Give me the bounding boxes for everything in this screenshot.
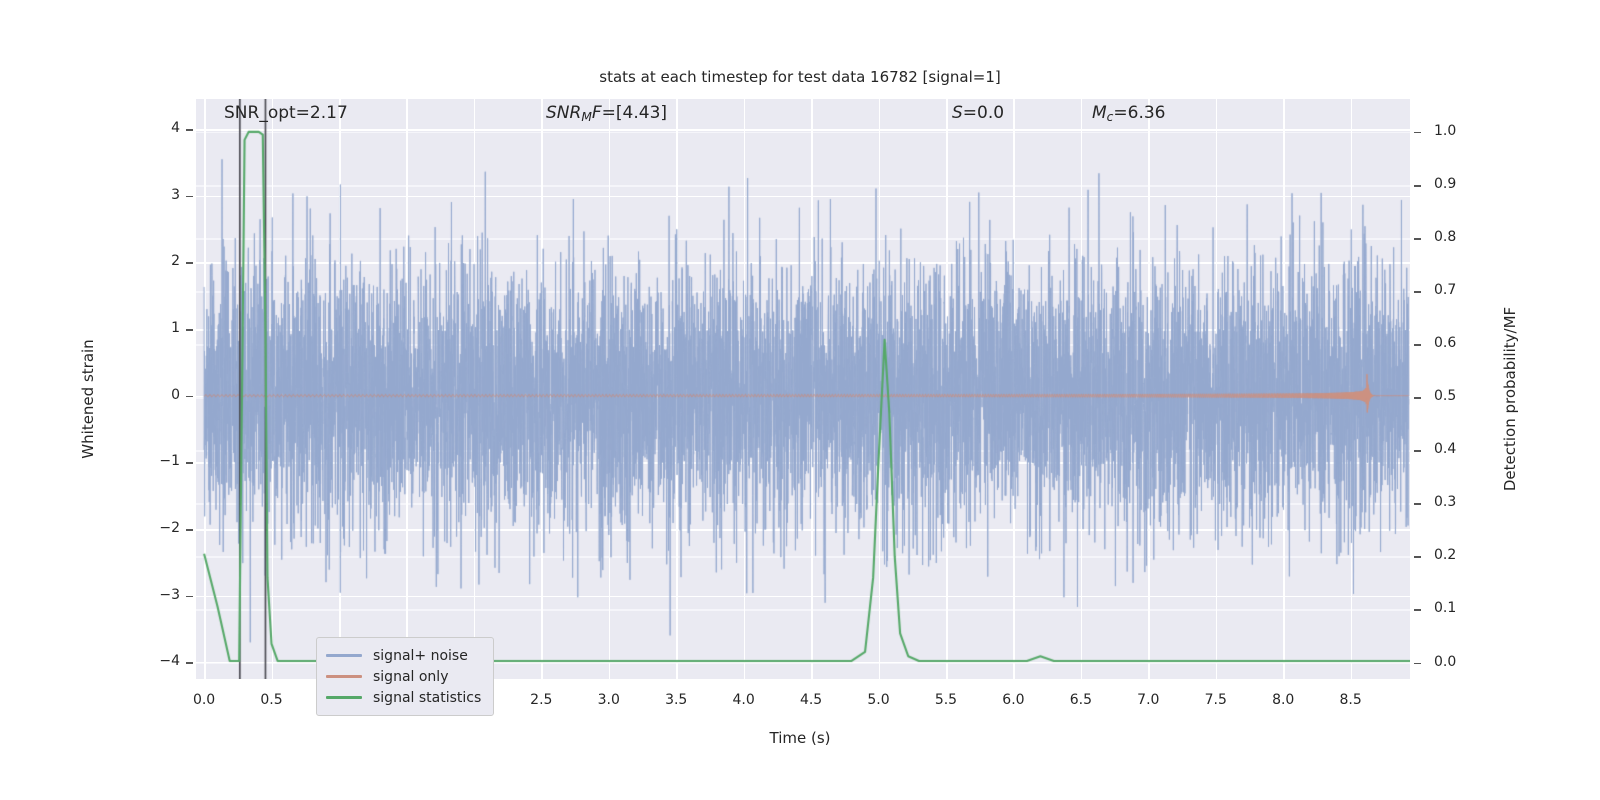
legend-swatch-icon	[326, 654, 362, 656]
y-tick-label-right: 0.6	[1434, 335, 1494, 351]
legend-item-1[interactable]: signal only	[326, 666, 481, 687]
y-tick-label-right: 1.0	[1434, 123, 1494, 139]
x-tick-label: 4.5	[786, 692, 836, 708]
y-tick-mark-right	[1414, 556, 1421, 558]
x-tick-label: 3.0	[584, 692, 634, 708]
y-tick-mark-right	[1414, 344, 1421, 346]
y-tick-mark-left	[186, 529, 193, 531]
x-tick-label: 6.0	[988, 692, 1038, 708]
x-tick-label: 2.5	[516, 692, 566, 708]
legend-item-0[interactable]: signal+ noise	[326, 645, 481, 666]
legend-label: signal+ noise	[373, 648, 468, 664]
x-tick-label: 0.5	[247, 692, 297, 708]
page-title: stats at each timestep for test data 167…	[0, 68, 1600, 86]
y-tick-label-right: 0.1	[1434, 600, 1494, 616]
x-tick-label: 4.0	[719, 692, 769, 708]
legend-label: signal statistics	[373, 690, 481, 706]
x-axis-label: Time (s)	[0, 729, 1600, 747]
y-tick-mark-left	[186, 129, 193, 131]
annotation-chirp-mass: Mc=6.36	[1092, 103, 1166, 124]
figure-canvas: stats at each timestep for test data 167…	[0, 0, 1600, 800]
y-tick-label-left: 0	[120, 387, 180, 403]
y-tick-mark-right	[1414, 663, 1421, 665]
legend-swatch-icon	[326, 675, 362, 677]
x-tick-label: 7.0	[1123, 692, 1173, 708]
chart-data-layer	[196, 99, 1410, 679]
legend-item-2[interactable]: signal statistics	[326, 687, 481, 708]
x-tick-label: 8.0	[1258, 692, 1308, 708]
y-tick-mark-left	[186, 596, 193, 598]
y-tick-label-left: 4	[120, 120, 180, 136]
plot-axes: SNR_opt=2.17SNRMF=[4.43]S=0.0Mc=6.36	[196, 99, 1410, 679]
y-tick-label-right: 0.5	[1434, 388, 1494, 404]
y-tick-label-right: 0.9	[1434, 176, 1494, 192]
annotation-snr-opt: SNR_opt=2.17	[224, 103, 348, 123]
y-tick-mark-right	[1414, 397, 1421, 399]
y-axis-label-right: Detection probability/MF	[1501, 279, 1519, 519]
y-tick-label-right: 0.8	[1434, 229, 1494, 245]
y-tick-label-right: 0.2	[1434, 547, 1494, 563]
chart-legend[interactable]: signal+ noisesignal onlysignal statistic…	[316, 637, 494, 716]
y-tick-label-right: 0.3	[1434, 494, 1494, 510]
y-tick-mark-right	[1414, 450, 1421, 452]
y-tick-mark-right	[1414, 291, 1421, 293]
x-tick-label: 6.5	[1056, 692, 1106, 708]
x-tick-label: 3.5	[651, 692, 701, 708]
x-tick-label: 8.5	[1326, 692, 1376, 708]
y-tick-mark-right	[1414, 238, 1421, 240]
y-tick-label-right: 0.4	[1434, 441, 1494, 457]
y-tick-label-left: 2	[120, 253, 180, 269]
y-tick-label-left: 3	[120, 187, 180, 203]
y-axis-label-left: Whitened strain	[79, 279, 97, 519]
y-tick-label-right: 0.0	[1434, 654, 1494, 670]
y-tick-mark-right	[1414, 609, 1421, 611]
y-tick-label-left: −4	[120, 653, 180, 669]
annotation-s-stat: S=0.0	[952, 103, 1004, 123]
y-tick-mark-left	[186, 196, 193, 198]
legend-label: signal only	[373, 669, 448, 685]
y-tick-mark-left	[186, 329, 193, 331]
y-tick-mark-right	[1414, 503, 1421, 505]
y-tick-mark-left	[186, 396, 193, 398]
y-tick-label-left: −1	[120, 453, 180, 469]
y-tick-label-left: −2	[120, 520, 180, 536]
y-tick-mark-right	[1414, 132, 1421, 134]
y-tick-label-left: 1	[120, 320, 180, 336]
x-tick-label: 5.5	[921, 692, 971, 708]
legend-swatch-icon	[326, 696, 362, 698]
x-tick-label: 0.0	[179, 692, 229, 708]
annotation-snr-mf: SNRMF=[4.43]	[546, 103, 667, 124]
y-tick-mark-left	[186, 662, 193, 664]
x-tick-label: 7.5	[1191, 692, 1241, 708]
y-tick-label-right: 0.7	[1434, 282, 1494, 298]
y-tick-mark-left	[186, 462, 193, 464]
y-tick-label-left: −3	[120, 587, 180, 603]
y-tick-mark-left	[186, 262, 193, 264]
x-tick-label: 5.0	[854, 692, 904, 708]
y-tick-mark-right	[1414, 185, 1421, 187]
